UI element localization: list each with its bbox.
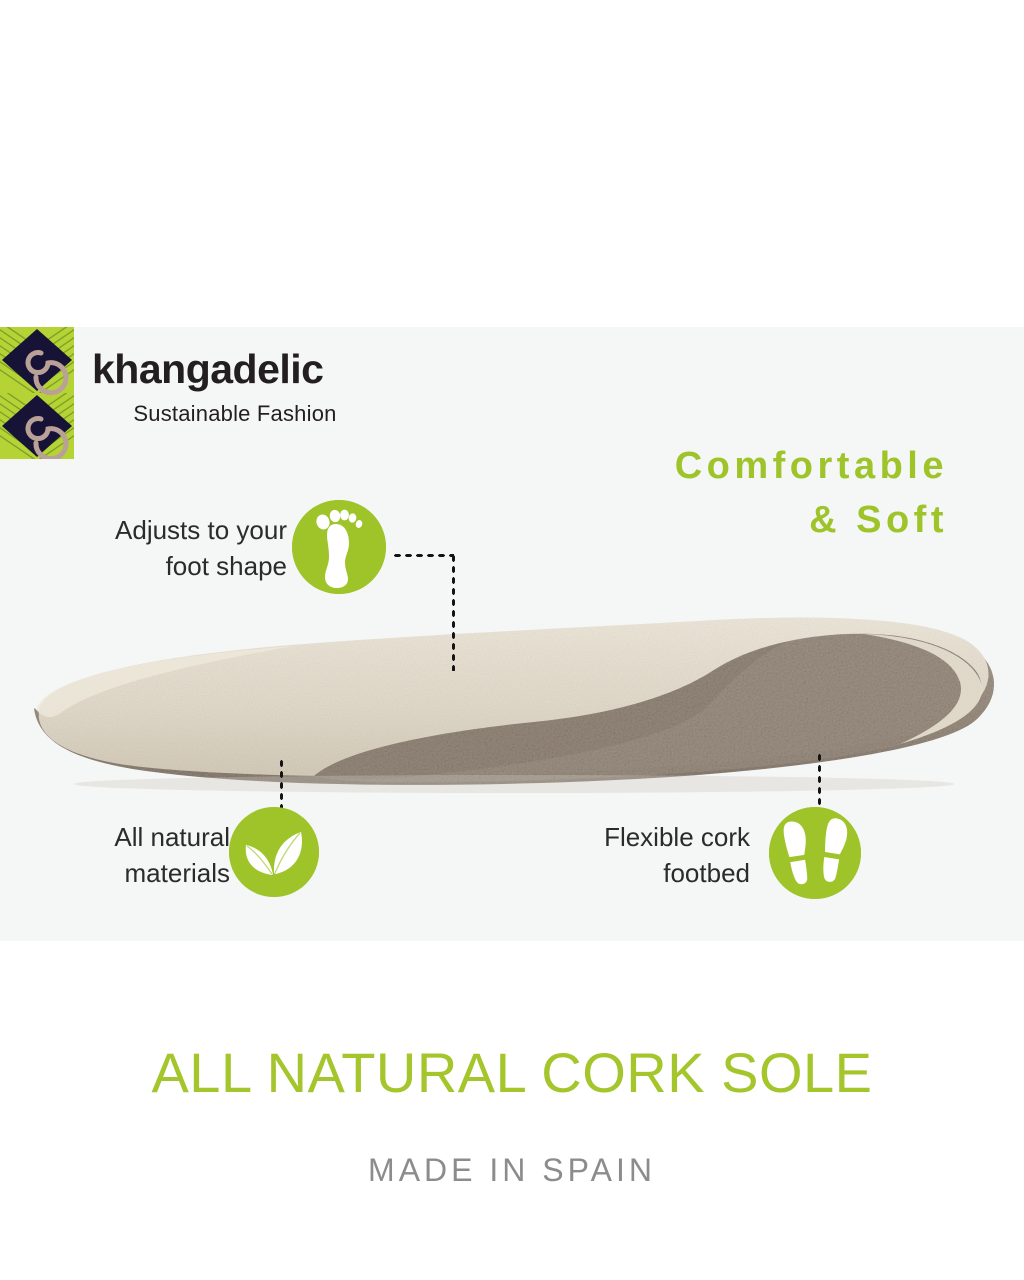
leaves-icon: [229, 807, 319, 897]
brand-logo-icon: [0, 327, 74, 459]
brand-wordmark: khangadelic Sustainable Fashion: [92, 349, 378, 427]
headline-line-2: & Soft: [468, 494, 948, 548]
feature-label-line-2: footbed: [663, 858, 750, 888]
feature-label-natural: All natural materials: [60, 820, 230, 892]
infographic-canvas: khangadelic Sustainable Fashion Comforta…: [0, 0, 1024, 1280]
feature-label-line-2: materials: [125, 858, 230, 888]
page-title: ALL NATURAL CORK SOLE: [0, 1040, 1024, 1105]
brand-name: khangadelic: [92, 349, 378, 390]
feature-label-adjusts: Adjusts to your foot shape: [55, 513, 287, 585]
headline-line-1: Comfortable: [468, 440, 948, 494]
feature-label-line-1: Flexible cork: [604, 822, 750, 852]
feature-label-line-1: Adjusts to your: [115, 515, 287, 545]
shoe-prints-icon: [769, 807, 861, 899]
footprint-icon: [292, 500, 386, 594]
feature-label-footbed: Flexible cork footbed: [550, 820, 750, 892]
brand-block: khangadelic Sustainable Fashion: [0, 327, 380, 467]
feature-label-line-1: All natural: [114, 822, 230, 852]
leader-flexible-cork-footbed: [817, 752, 822, 814]
brand-tagline: Sustainable Fashion: [92, 401, 378, 427]
page-subtitle: MADE IN SPAIN: [0, 1152, 1024, 1189]
feature-label-line-2: foot shape: [166, 551, 287, 581]
headline: Comfortable & Soft: [468, 440, 948, 548]
cork-insole-image: [14, 600, 1014, 800]
